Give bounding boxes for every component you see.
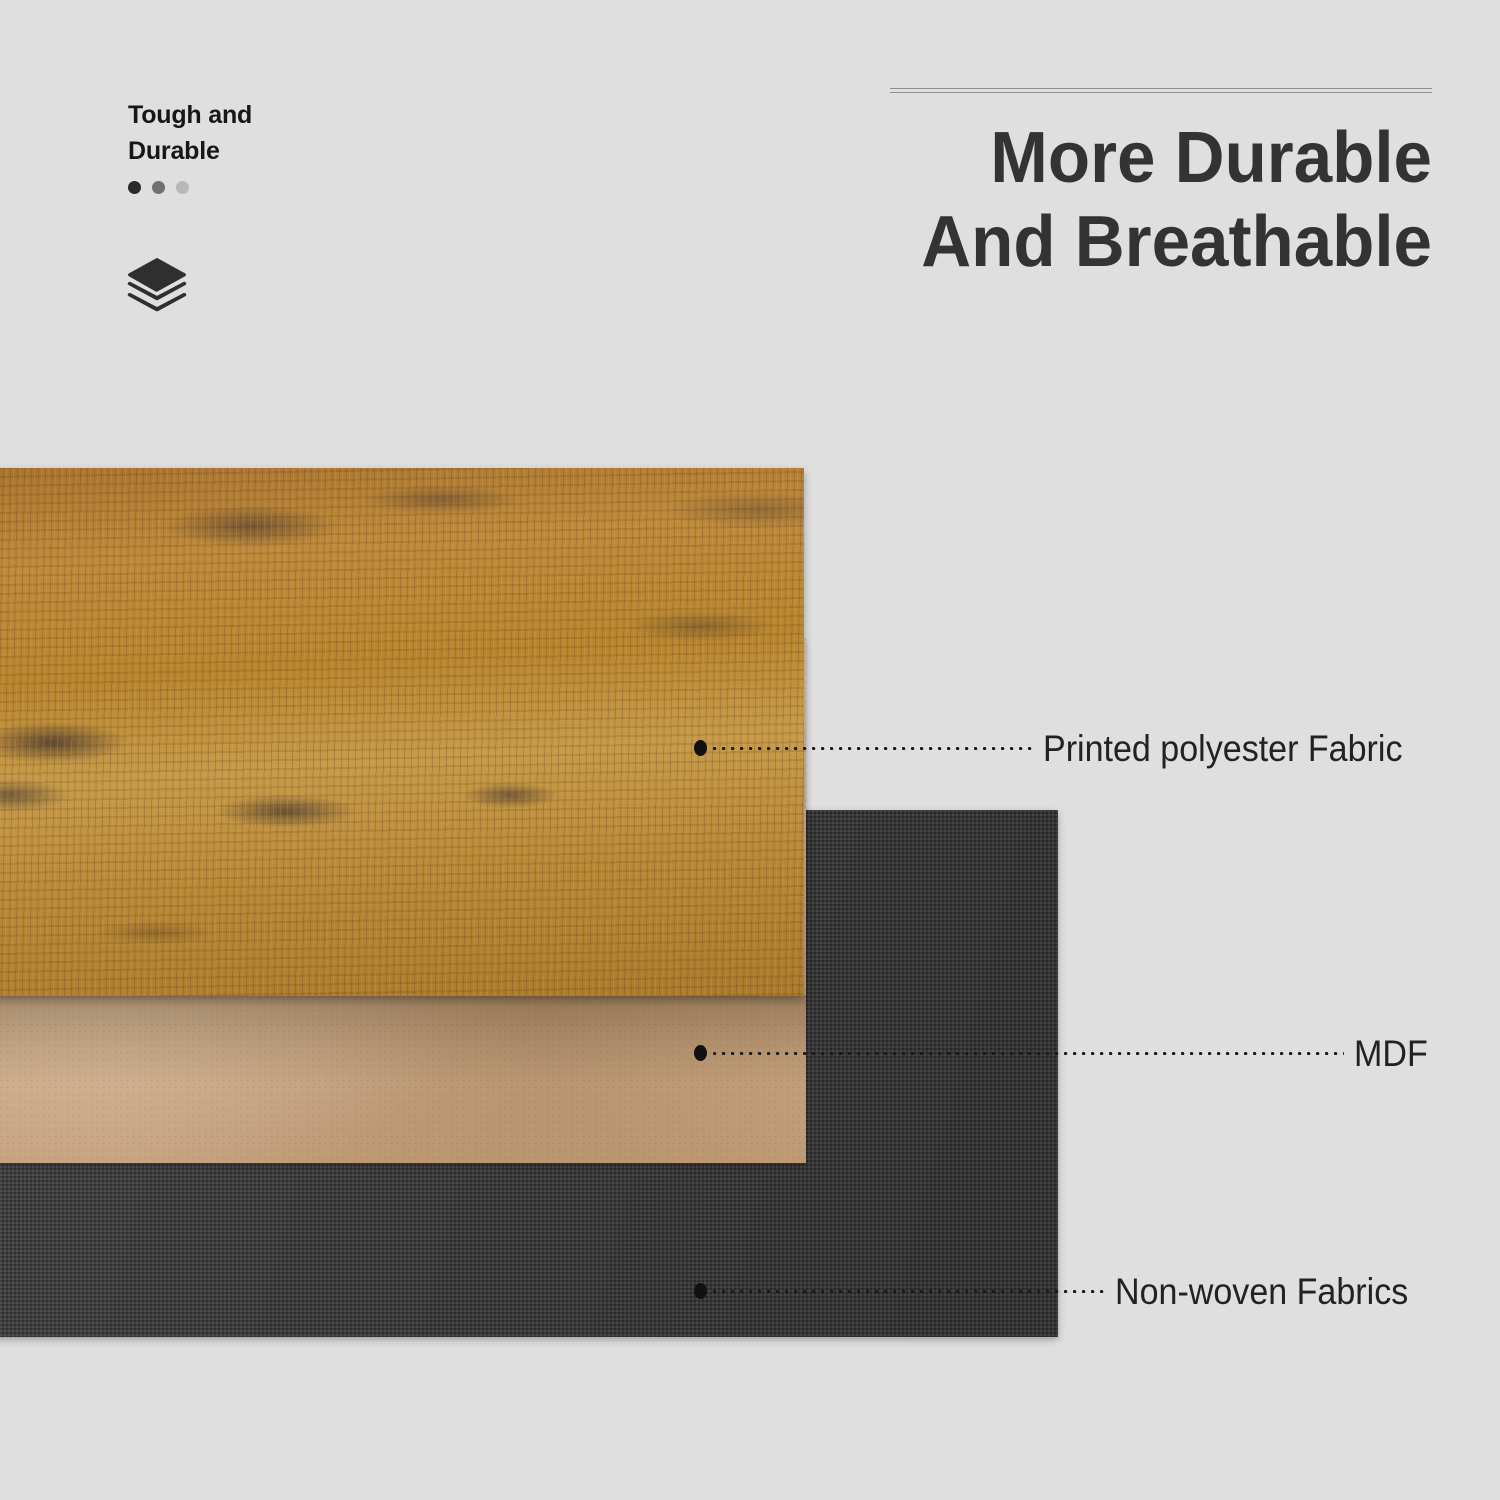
progress-dot-medium: [152, 181, 165, 194]
callout-dot-icon: [694, 1045, 707, 1061]
product-infographic: Tough and Durable More Durable And Breat…: [0, 0, 1500, 1500]
headline-divider: [890, 88, 1432, 93]
callout-leader-line: [713, 1052, 1344, 1055]
eyebrow-title: Tough and Durable: [128, 98, 278, 169]
progress-dot-active: [128, 181, 141, 194]
callout-label: Non-woven Fabrics: [1115, 1273, 1408, 1310]
progress-dot-light: [176, 181, 189, 194]
headline-block: More Durable And Breathable: [872, 88, 1432, 284]
callout-leader-line: [713, 1290, 1108, 1293]
progress-dots: [128, 181, 428, 194]
page-title: More Durable And Breathable: [894, 117, 1432, 284]
layers-icon: [126, 253, 188, 315]
callout-label: Printed polyester Fabric: [1043, 730, 1402, 767]
callout-leader-line: [713, 747, 1036, 750]
callout-dot-icon: [694, 1283, 707, 1299]
eyebrow-block: Tough and Durable: [128, 98, 428, 194]
printed-polyester-fabric-layer: [0, 468, 804, 996]
callout-dot-icon: [694, 740, 707, 756]
callout-label: MDF: [1354, 1035, 1428, 1072]
